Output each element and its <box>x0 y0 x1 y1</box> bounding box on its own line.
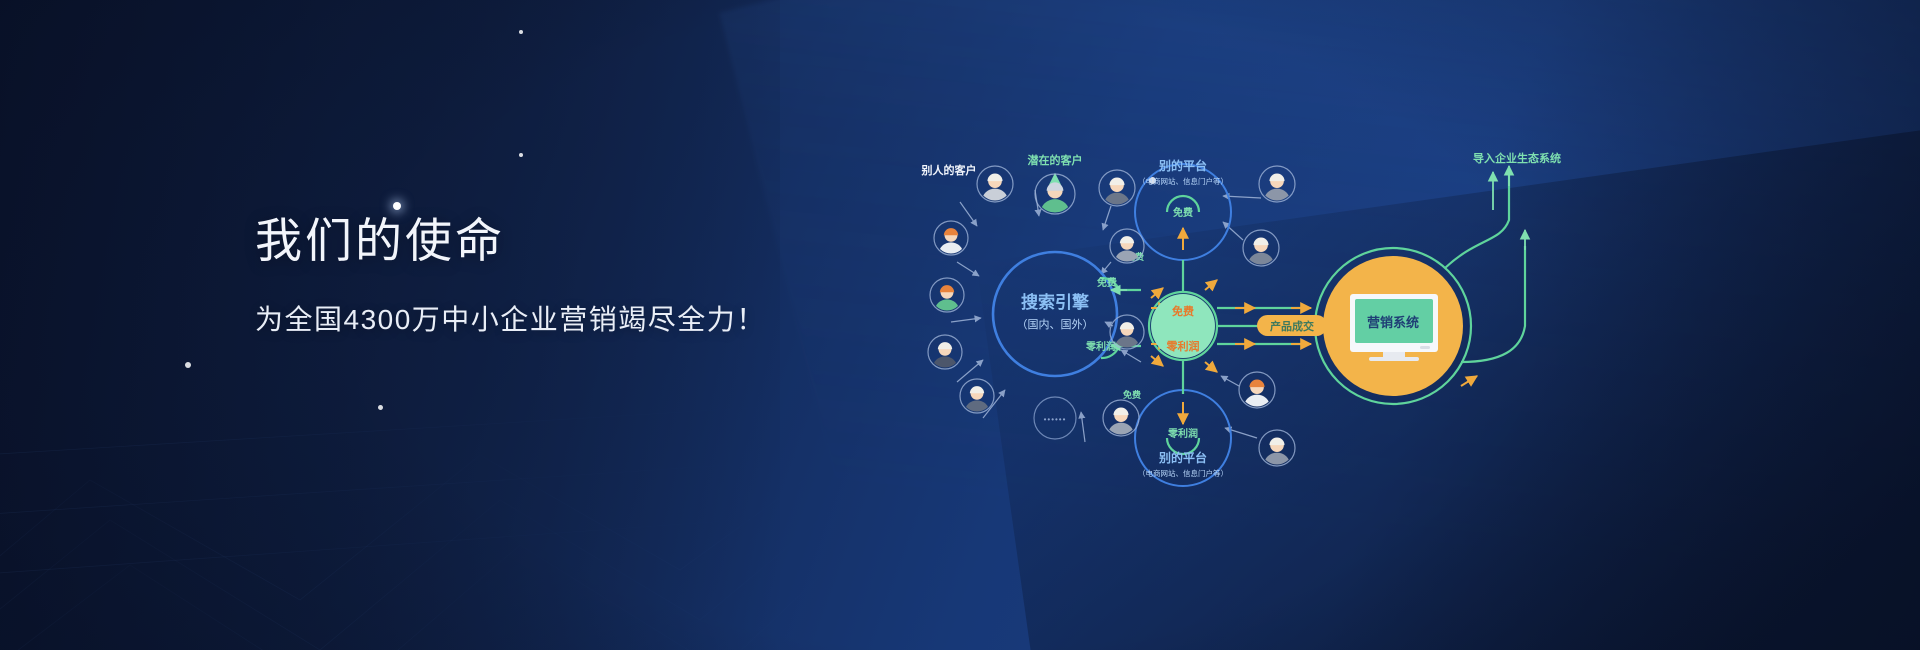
others-customers-label: 别人的客户 <box>921 163 977 177</box>
search-engine-subtitle: （国内、国外） <box>1017 317 1094 331</box>
edge-label-free-left: 免费 <box>1097 276 1117 289</box>
decorative-dot <box>393 202 401 210</box>
hero-copy: 我们的使命 为全国4300万中小企业营销竭尽全力！ <box>255 215 766 336</box>
page-title: 我们的使命 <box>255 215 766 267</box>
avatar <box>934 221 968 255</box>
core-bottom-label: 零利润 <box>1166 339 1200 353</box>
avatar <box>1239 372 1275 408</box>
avatar <box>977 166 1013 202</box>
platform-bottom-title: 别的平台 <box>1158 450 1207 465</box>
decorative-dot <box>185 362 191 368</box>
core-top-label: 免费 <box>1172 304 1194 318</box>
platform-bottom-badge: 零利润 <box>1167 427 1198 440</box>
decorative-dot <box>519 153 523 157</box>
avatar <box>1099 170 1135 206</box>
avatar <box>1103 400 1139 436</box>
platform-top-subtitle: （电商网站、信息门户等） <box>1138 176 1228 186</box>
search-engine-title: 搜索引擎 <box>1021 292 1090 312</box>
decorative-dot <box>519 30 523 34</box>
page-subtitle: 为全国4300万中小企业营销竭尽全力！ <box>255 303 766 337</box>
monitor-base <box>1369 357 1419 361</box>
avatar <box>1259 430 1295 466</box>
ecosystem-diagram: 营销系统 免费 零利润 产品成交 搜索引擎 （国内、国外） 别的平台 （电商网站… <box>905 150 1605 510</box>
marketing-system-label: 营销系统 <box>1367 315 1419 330</box>
avatar <box>1110 229 1144 263</box>
platform-top-title: 别的平台 <box>1158 158 1207 173</box>
monitor-stand <box>1383 352 1405 357</box>
search-engine-node <box>993 252 1117 376</box>
platform-bottom-subtitle: （电商网站、信息门户等） <box>1138 468 1228 478</box>
hero-banner: 我们的使命 为全国4300万中小企业营销竭尽全力！ <box>0 0 1920 650</box>
deal-pill-label: 产品成交 <box>1270 319 1314 333</box>
deal-pill: 产品成交 <box>1257 315 1327 336</box>
avatar <box>928 335 962 369</box>
core-hub: 免费 零利润 <box>1151 294 1215 358</box>
monitor-indicator <box>1420 346 1430 349</box>
more-customers-ellipsis: •••••• <box>1044 415 1067 424</box>
avatar <box>930 278 964 312</box>
avatar <box>1259 166 1295 202</box>
edge-label-zero-profit-left: 零利润 <box>1085 340 1116 353</box>
edge-label-free-lower: 免费 <box>1123 389 1141 400</box>
customer-avatars <box>928 166 1295 466</box>
more-customers-node: •••••• <box>1034 397 1076 439</box>
platform-top-badge: 免费 <box>1173 206 1193 219</box>
potential-customers-label: 潜在的客户 <box>1028 153 1083 167</box>
marketing-system-module: 营销系统 <box>1323 256 1463 396</box>
avatar <box>1243 230 1279 266</box>
avatar <box>960 379 994 413</box>
decorative-dot <box>378 405 383 410</box>
import-ecosystem-label: 导入企业生态系统 <box>1473 151 1561 165</box>
